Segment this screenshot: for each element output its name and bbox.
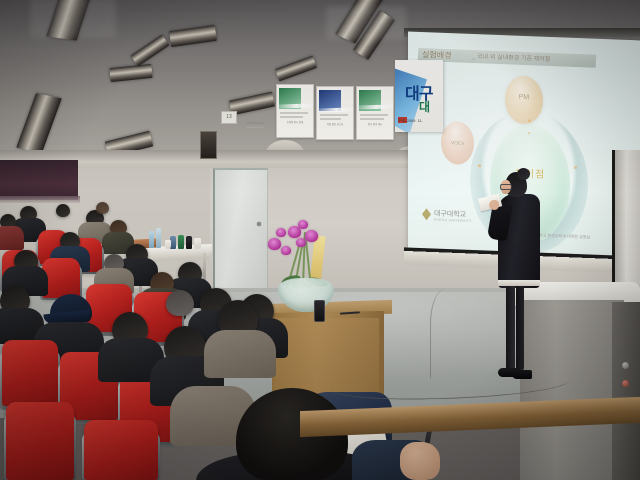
poster-caption: 학술 발표 포스터	[321, 124, 350, 127]
orchid-bloom	[298, 220, 308, 229]
audience-shoulders	[204, 330, 276, 378]
wall-poster: 연구 성과 게시	[356, 86, 394, 140]
audience-shoulders	[0, 226, 24, 250]
orchid-bloom	[276, 228, 286, 237]
ceiling-light-panel	[16, 93, 62, 153]
water-bottle	[149, 231, 154, 248]
ceiling-light-panel	[169, 25, 217, 47]
orchid-bloom	[305, 230, 318, 242]
slide-logo-subtext: DAEGU UNIVERSITY	[434, 218, 472, 223]
poster-caption: 연구 성과 게시	[361, 124, 390, 127]
orchid-bloom	[281, 246, 291, 255]
auditorium-seat[interactable]	[6, 402, 74, 480]
auditorium-seat[interactable]	[84, 420, 158, 480]
paper-cup	[194, 238, 201, 249]
lectern-side-panel	[612, 302, 640, 480]
mobile-phone[interactable]	[314, 300, 325, 322]
audience-head	[56, 204, 70, 217]
presenter-leg	[516, 286, 524, 370]
banner-line-2: 대	[419, 98, 430, 115]
paper-cup	[165, 240, 171, 249]
slide-bubble-pm-label: PM	[505, 93, 543, 101]
daegu-university-logo-icon	[422, 208, 431, 220]
room-number-sign: 13	[221, 111, 237, 124]
beverage-can	[186, 236, 192, 249]
water-bottle	[156, 228, 161, 248]
lecture-hall-photo: 수상작 전시 안내 학술 발표 포스터 연구 성과 게시 13 실험배경 _ 국…	[0, 0, 640, 480]
power-cable	[430, 288, 471, 378]
presenter-hair-bun	[517, 168, 530, 180]
lectern-control-knob[interactable]	[622, 362, 629, 369]
ceiling-light-panel	[275, 56, 317, 82]
beverage-can	[178, 235, 184, 249]
auditorium-seat[interactable]	[2, 340, 58, 406]
audience-head	[166, 290, 194, 316]
dark-curtain	[0, 160, 78, 200]
ceiling-light-panel	[109, 64, 152, 82]
lectern-power-indicator[interactable]	[622, 380, 629, 387]
glasses-icon	[500, 184, 512, 190]
slide-bubble-vocs-label: VOCs	[441, 140, 474, 147]
audience-head	[96, 202, 109, 214]
presenter-hand	[489, 200, 499, 210]
foreground-person-hand	[400, 442, 440, 480]
banner-line-3: 주최 2009. 11.	[398, 118, 423, 124]
orchid-bloom	[268, 238, 281, 250]
door-handle-icon[interactable]	[257, 222, 261, 226]
orchid-bloom	[296, 238, 306, 247]
exit-door[interactable]	[213, 168, 268, 292]
wall-poster: 학술 발표 포스터	[316, 86, 354, 140]
wall-poster: 수상작 전시 안내	[276, 84, 314, 138]
ceiling-light-panel	[131, 34, 170, 66]
slide-core-label: 차이점	[490, 164, 570, 182]
event-banner: 대구 대 주최 2009. 11.	[395, 60, 443, 132]
poster-caption: 수상작 전시 안내	[281, 122, 310, 125]
curtain-edge	[0, 196, 80, 203]
wall-speaker	[200, 131, 217, 159]
presenter-leg	[506, 286, 515, 372]
